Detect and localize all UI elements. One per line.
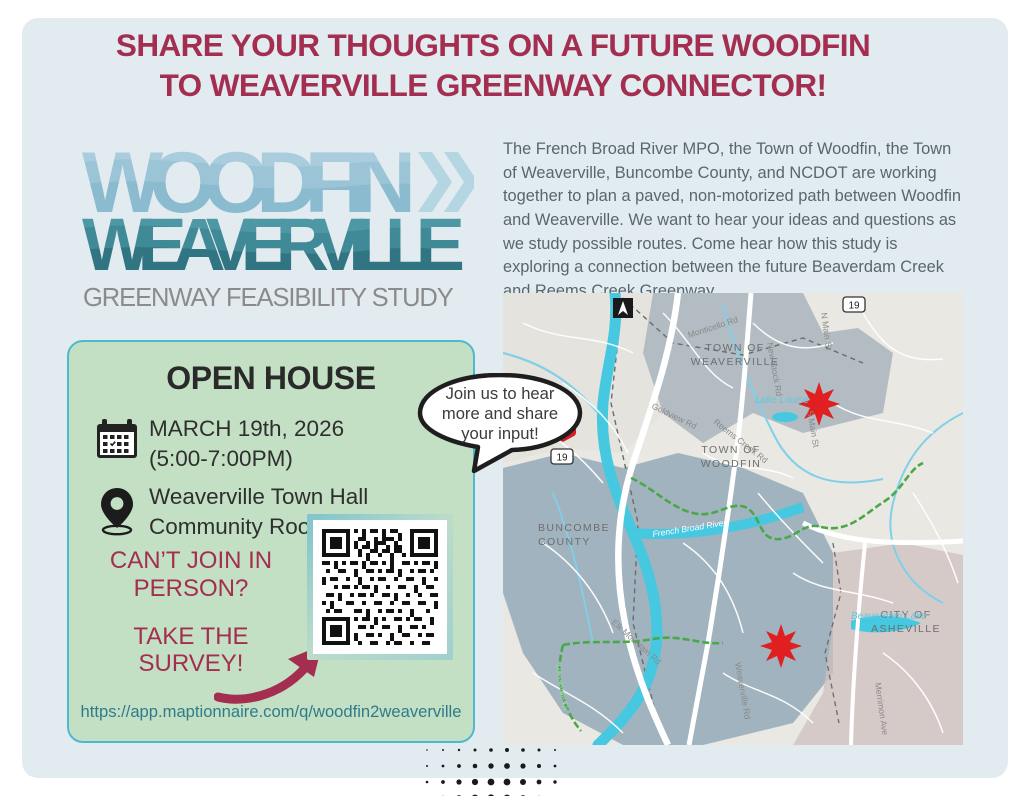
north-arrow-icon [613, 298, 633, 318]
map-label-county-2: COUNTY [538, 536, 591, 548]
map-label-lake-louise: Lake Louise [755, 395, 809, 406]
speech-bubble: Join us to hear more and share your inpu… [416, 373, 584, 473]
calendar-icon [95, 414, 141, 460]
survey-url[interactable]: https://app.maptionnaire.com/q/woodfin2w… [69, 702, 473, 722]
map-pin-icon [95, 482, 141, 536]
headline-line-1: SHARE YOUR THOUGHTS ON A FUTURE WOODFIN [40, 26, 946, 66]
qr-code[interactable] [313, 520, 447, 654]
headline-line-2: TO WEAVERVILLE GREENWAY CONNECTOR! [40, 66, 946, 106]
open-house-date-line-2: (5:00-7:00PM) [149, 444, 344, 474]
lake-louise-water [772, 412, 798, 422]
shield-us19-north: 19 [843, 297, 865, 312]
qr-code-frame[interactable] [307, 514, 453, 660]
intro-paragraph: The French Broad River MPO, the Town of … [503, 138, 965, 303]
survey-cta-question: CAN’T JOIN IN PERSON? [83, 547, 299, 603]
bubble-line-1: Join us to hear [446, 384, 555, 404]
open-house-card: OPEN HOUSE [67, 340, 475, 743]
map-label-county-1: BUNCOMBE [538, 522, 610, 534]
open-house-date-row: MARCH 19th, 2026 (5:00-7:00PM) [95, 414, 344, 474]
open-house-title: OPEN HOUSE [69, 360, 473, 397]
open-house-date-line-1: MARCH 19th, 2026 [149, 414, 344, 444]
open-house-location-line-1: Weaverville Town Hall [149, 482, 368, 512]
study-logo: WOODFIN WEAVERVILLE [82, 128, 474, 318]
study-area-map[interactable]: 19 26 19 TOWN OF WEAVERVILLE TOWN OF WOO… [503, 293, 963, 745]
map-label-weaverville-2: WEAVERVILLE [691, 356, 780, 368]
svg-text:19: 19 [848, 301, 860, 312]
open-house-date: MARCH 19th, 2026 (5:00-7:00PM) [141, 414, 344, 474]
survey-cta-line-1b: PERSON? [83, 575, 299, 603]
map-label-asheville-2: ASHEVILLE [871, 623, 941, 635]
speech-bubble-text: Join us to hear more and share your inpu… [416, 373, 584, 455]
map-label-beaverdam-lake: Beaverdam Lake [851, 611, 927, 622]
map-label-woodfin-2: WOODFIN [701, 458, 762, 470]
flyer-page: SHARE YOUR THOUGHTS ON A FUTURE WOODFIN … [0, 0, 1030, 796]
logo-subtitle: GREENWAY FEASIBILITY STUDY [83, 284, 455, 312]
page-title: SHARE YOUR THOUGHTS ON A FUTURE WOODFIN … [40, 26, 946, 105]
survey-cta-line-1a: CAN’T JOIN IN [83, 547, 299, 575]
map-label-weaverville-1: TOWN OF [705, 342, 764, 354]
bubble-line-3: your input! [461, 424, 538, 444]
bubble-line-2: more and share [442, 404, 558, 424]
